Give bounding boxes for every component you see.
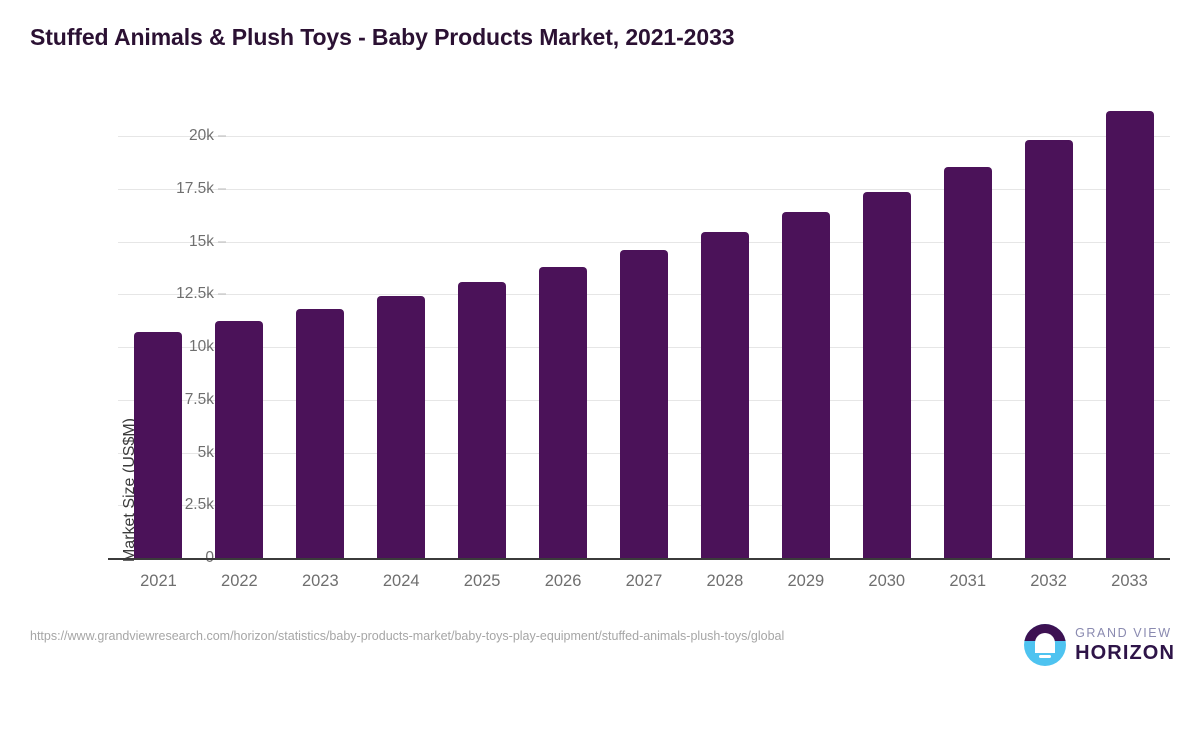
x-tick-label: 2033 bbox=[1089, 572, 1170, 591]
x-tick-label: 2026 bbox=[523, 572, 604, 591]
bar-column[interactable]: 2024 bbox=[361, 136, 442, 558]
bar-column[interactable]: 2030 bbox=[846, 136, 927, 558]
bar-column[interactable]: 2033 bbox=[1089, 136, 1170, 558]
horizon-logo-icon bbox=[1024, 624, 1066, 666]
x-tick-label: 2023 bbox=[280, 572, 361, 591]
logo-wordmark: GRAND VIEW HORIZON bbox=[1075, 627, 1175, 663]
x-axis-line bbox=[108, 558, 1170, 560]
bar-column[interactable]: 2028 bbox=[684, 136, 765, 558]
bar-2021[interactable] bbox=[134, 332, 182, 558]
bar-2029[interactable] bbox=[782, 212, 830, 558]
x-tick-label: 2021 bbox=[118, 572, 199, 591]
bar-2026[interactable] bbox=[539, 267, 587, 558]
plot-area: 02.5k5k7.5k10k12.5k15k17.5k20k Market Si… bbox=[118, 136, 1170, 558]
bar-2023[interactable] bbox=[296, 309, 344, 558]
x-tick-label: 2027 bbox=[604, 572, 685, 591]
x-tick-label: 2028 bbox=[684, 572, 765, 591]
logo-top-text: GRAND VIEW bbox=[1075, 627, 1175, 640]
x-tick-label: 2025 bbox=[442, 572, 523, 591]
bar-2028[interactable] bbox=[701, 232, 749, 558]
x-tick-label: 2024 bbox=[361, 572, 442, 591]
bar-2033[interactable] bbox=[1106, 111, 1154, 558]
logo-bottom-text: HORIZON bbox=[1075, 643, 1175, 663]
x-tick-label: 2022 bbox=[199, 572, 280, 591]
chart-page: Stuffed Animals & Plush Toys - Baby Prod… bbox=[0, 0, 1200, 675]
bar-2030[interactable] bbox=[863, 192, 911, 558]
source-url[interactable]: https://www.grandviewresearch.com/horizo… bbox=[30, 628, 960, 645]
bar-2025[interactable] bbox=[458, 282, 506, 558]
x-tick-label: 2032 bbox=[1008, 572, 1089, 591]
bar-2032[interactable] bbox=[1025, 140, 1073, 558]
x-tick-label: 2031 bbox=[927, 572, 1008, 591]
bar-column[interactable]: 2026 bbox=[523, 136, 604, 558]
bar-2031[interactable] bbox=[944, 167, 992, 558]
bar-2027[interactable] bbox=[620, 250, 668, 558]
bar-column[interactable]: 2032 bbox=[1008, 136, 1089, 558]
page-title: Stuffed Animals & Plush Toys - Baby Prod… bbox=[30, 24, 734, 51]
bar-2024[interactable] bbox=[377, 296, 425, 558]
bar-column[interactable]: 2023 bbox=[280, 136, 361, 558]
bar-column[interactable]: 2025 bbox=[442, 136, 523, 558]
x-tick-label: 2030 bbox=[846, 572, 927, 591]
bars-layer: 2021202220232024202520262027202820292030… bbox=[118, 136, 1170, 558]
bar-2022[interactable] bbox=[215, 321, 263, 558]
x-tick-label: 2029 bbox=[765, 572, 846, 591]
bar-column[interactable]: 2031 bbox=[927, 136, 1008, 558]
bar-column[interactable]: 2027 bbox=[604, 136, 685, 558]
bar-column[interactable]: 2021 bbox=[118, 136, 199, 558]
brand-logo: GRAND VIEW HORIZON bbox=[1024, 624, 1175, 666]
bar-column[interactable]: 2022 bbox=[199, 136, 280, 558]
bar-column[interactable]: 2029 bbox=[765, 136, 846, 558]
